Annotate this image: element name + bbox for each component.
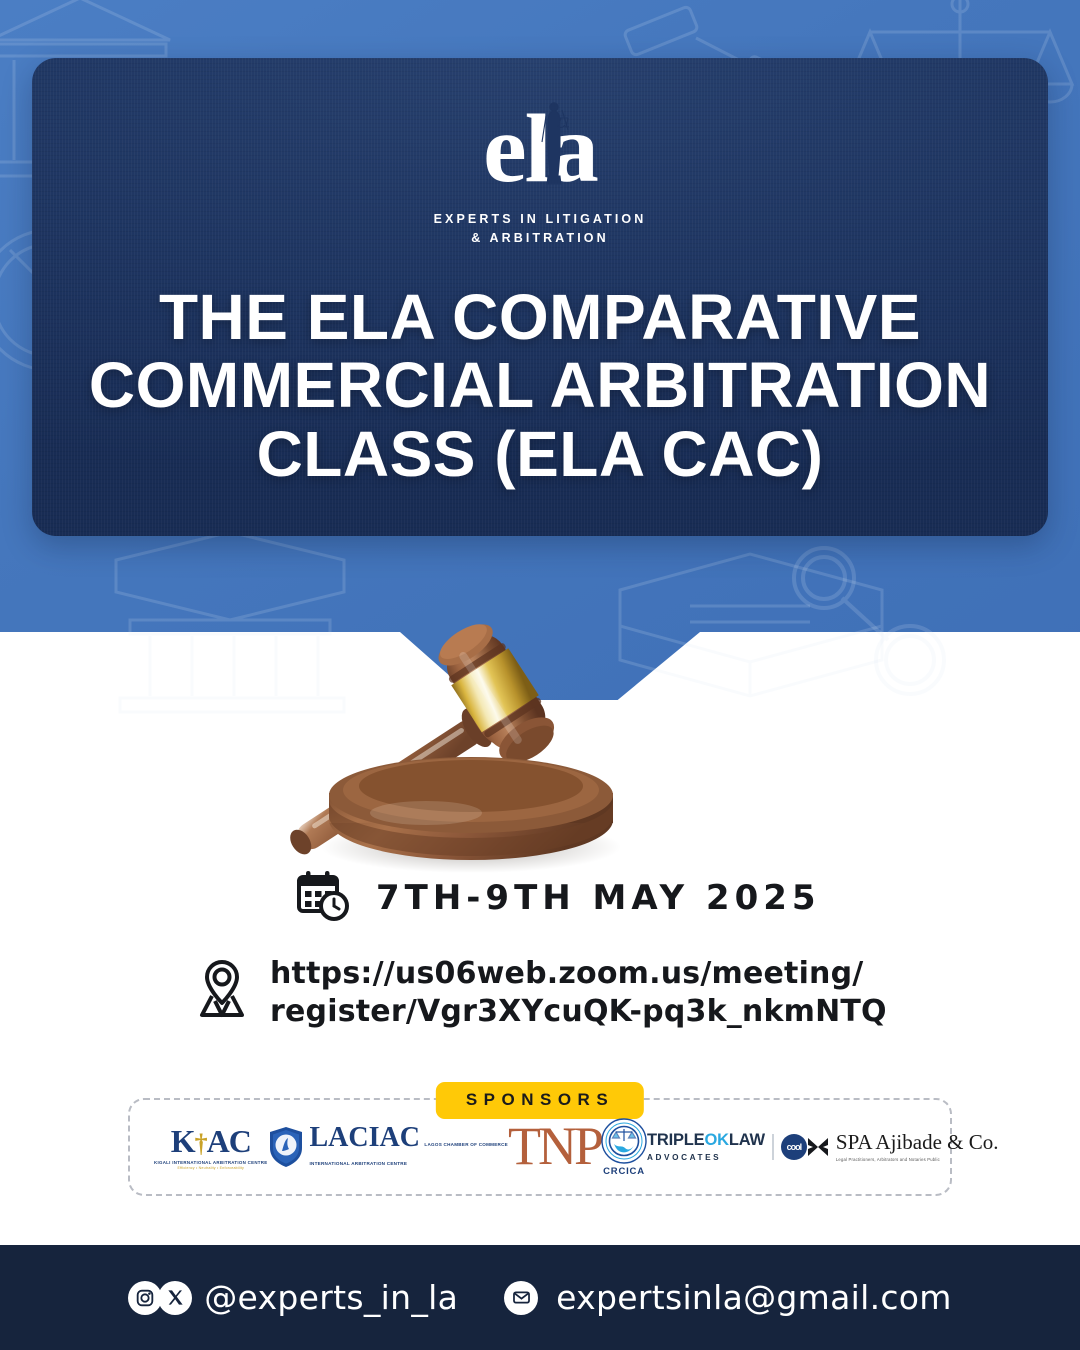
envelope-icon[interactable] xyxy=(504,1281,538,1315)
email-address[interactable]: expertsinla@gmail.com xyxy=(556,1278,952,1317)
event-details: 7TH-9TH MAY 2025 https://us06web.zoom.us… xyxy=(0,868,1080,1032)
ela-tagline-line2: & ARBITRATION xyxy=(410,229,670,248)
sponsor-logo-tnp: TNP xyxy=(508,1124,601,1170)
tripleoklaw-subtitle: ADVOCATES xyxy=(647,1153,765,1162)
ela-tagline-line1: EXPERTS IN LITIGATION xyxy=(410,210,670,229)
judge-gavel-illustration xyxy=(226,575,706,875)
sponsor-logo-spa-ajibade: SPA Ajibade & Co. Legal Practitioners, A… xyxy=(807,1132,999,1162)
kiac-subtitle: KIGALI INTERNATIONAL ARBITRATION CENTRE xyxy=(154,1160,268,1165)
spa-ajibade-wordmark: SPA Ajibade & Co. xyxy=(836,1130,999,1154)
laciac-shield-icon xyxy=(268,1126,304,1168)
ela-logo-mark: ela xyxy=(410,110,670,196)
kiac-wordmark: K†AC xyxy=(154,1125,268,1157)
crcica-wordmark: CRCICA xyxy=(601,1166,647,1177)
contact-footer: @experts_in_la expertsinla@gmail.com xyxy=(0,1245,1080,1350)
laciac-sub-line2: INTERNATIONAL ARBITRATION CENTRE xyxy=(310,1161,408,1166)
registration-link-line1: https://us06web.zoom.us/meeting/ xyxy=(270,956,863,991)
kiac-word-tail: AC xyxy=(207,1123,251,1159)
ela-logo: ela xyxy=(410,110,670,249)
page-title: THE ELA COMPARATIVE COMMERCIAL ARBITRATI… xyxy=(70,283,1010,488)
sponsor-logo-tripleoklaw: TRIPLEOKLAW ADVOCATES cool xyxy=(647,1132,807,1162)
laciac-wordmark: LACIAC xyxy=(310,1122,420,1153)
kiac-word-head: K xyxy=(171,1123,195,1159)
registration-link-line2: register/Vgr3XYcuQK-pq3k_nkmNTQ xyxy=(270,994,887,1029)
kiac-strapline: Efficiency • Neutrality • Enforceability xyxy=(154,1166,268,1170)
tok-mid: OK xyxy=(704,1131,728,1149)
crcica-emblem-icon xyxy=(601,1118,647,1164)
location-pin-icon xyxy=(196,957,248,1024)
spa-ajibade-subtitle: Legal Practitioners, Arbitrators and Not… xyxy=(836,1157,999,1162)
lady-justice-icon xyxy=(539,96,569,188)
social-handle-group[interactable]: @experts_in_la xyxy=(128,1278,458,1317)
title-card: ela xyxy=(32,58,1048,536)
tripleoklaw-mark-icon: cool xyxy=(781,1134,807,1160)
kiac-figure-glyph: † xyxy=(195,1129,207,1158)
tok-post: LAW xyxy=(729,1131,765,1149)
laciac-sub-line1: LAGOS CHAMBER OF COMMERCE xyxy=(424,1142,508,1147)
ela-tagline: EXPERTS IN LITIGATION & ARBITRATION xyxy=(410,210,670,249)
registration-link-row[interactable]: https://us06web.zoom.us/meeting/ registe… xyxy=(0,953,1080,1032)
email-group[interactable]: expertsinla@gmail.com xyxy=(504,1278,952,1317)
x-twitter-icon[interactable] xyxy=(158,1281,192,1315)
divider xyxy=(772,1134,774,1160)
tnp-wordmark: TNP xyxy=(508,1124,601,1170)
event-date-row: 7TH-9TH MAY 2025 xyxy=(0,868,1080,927)
spa-x-mark-icon xyxy=(807,1136,829,1158)
sponsor-logo-crcica: CRCICA xyxy=(601,1118,647,1177)
sponsor-logo-kiac: K†AC KIGALI INTERNATIONAL ARBITRATION CE… xyxy=(154,1125,268,1170)
registration-link[interactable]: https://us06web.zoom.us/meeting/ registe… xyxy=(270,955,887,1032)
sponsor-logo-laciac: LACIAC LAGOS CHAMBER OF COMMERCE INTERNA… xyxy=(268,1124,509,1170)
tok-pre: TRIPLE xyxy=(647,1131,704,1149)
instagram-icon[interactable] xyxy=(128,1281,162,1315)
social-handle[interactable]: @experts_in_la xyxy=(204,1278,458,1317)
poster-canvas: ela xyxy=(0,0,1080,1350)
calendar-clock-icon xyxy=(296,868,350,927)
event-date: 7TH-9TH MAY 2025 xyxy=(376,878,821,918)
sponsors-panel: SPONSORS K†AC KIGALI INTERNATIONAL ARBIT… xyxy=(128,1098,952,1196)
tripleoklaw-wordmark: TRIPLEOKLAW xyxy=(647,1131,765,1149)
